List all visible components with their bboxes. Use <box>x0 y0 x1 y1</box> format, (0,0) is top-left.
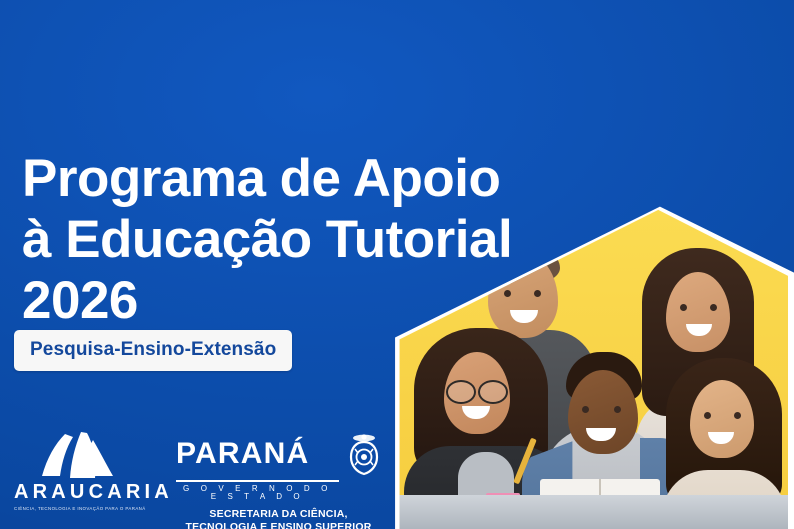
logo-row: ARAUCARIA CIÊNCIA, TECNOLOGIA E INOVAÇÃO… <box>14 432 381 529</box>
headline-line-1: Programa de Apoio <box>22 148 602 209</box>
araucaria-tree-icon <box>35 432 119 478</box>
desk-surface <box>390 495 788 529</box>
promotional-banner: Programa de Apoio à Educação Tutorial 20… <box>0 0 794 529</box>
parana-secretariat-label: SECRETARIA DA CIÊNCIA, TECNOLOGIA E ENSI… <box>176 508 381 529</box>
araucaria-wordmark: ARAUCARIA <box>14 482 140 502</box>
page-title: Programa de Apoio à Educação Tutorial 20… <box>22 148 602 332</box>
divider <box>176 480 339 482</box>
headline-line-3: 2026 <box>22 270 602 331</box>
parana-wordmark: PARANÁ <box>176 439 309 469</box>
headline-line-2: à Educação Tutorial <box>22 209 602 270</box>
araucaria-tagline: CIÊNCIA, TECNOLOGIA E INOVAÇÃO PARA O PA… <box>14 506 140 511</box>
parana-coat-of-arms-icon <box>347 432 381 476</box>
secretariat-line-2: TECNOLOGIA E ENSINO SUPERIOR <box>176 521 381 529</box>
parana-government-logo: PARANÁ G O V E R N O D O E S T A D O SEC… <box>176 432 381 529</box>
secretariat-line-1: SECRETARIA DA CIÊNCIA, <box>176 508 381 521</box>
status-badge: Pesquisa-Ensino-Extensão <box>14 330 292 371</box>
parana-government-label: G O V E R N O D O E S T A D O <box>176 485 339 501</box>
araucaria-logo: ARAUCARIA CIÊNCIA, TECNOLOGIA E INOVAÇÃO… <box>14 432 140 511</box>
